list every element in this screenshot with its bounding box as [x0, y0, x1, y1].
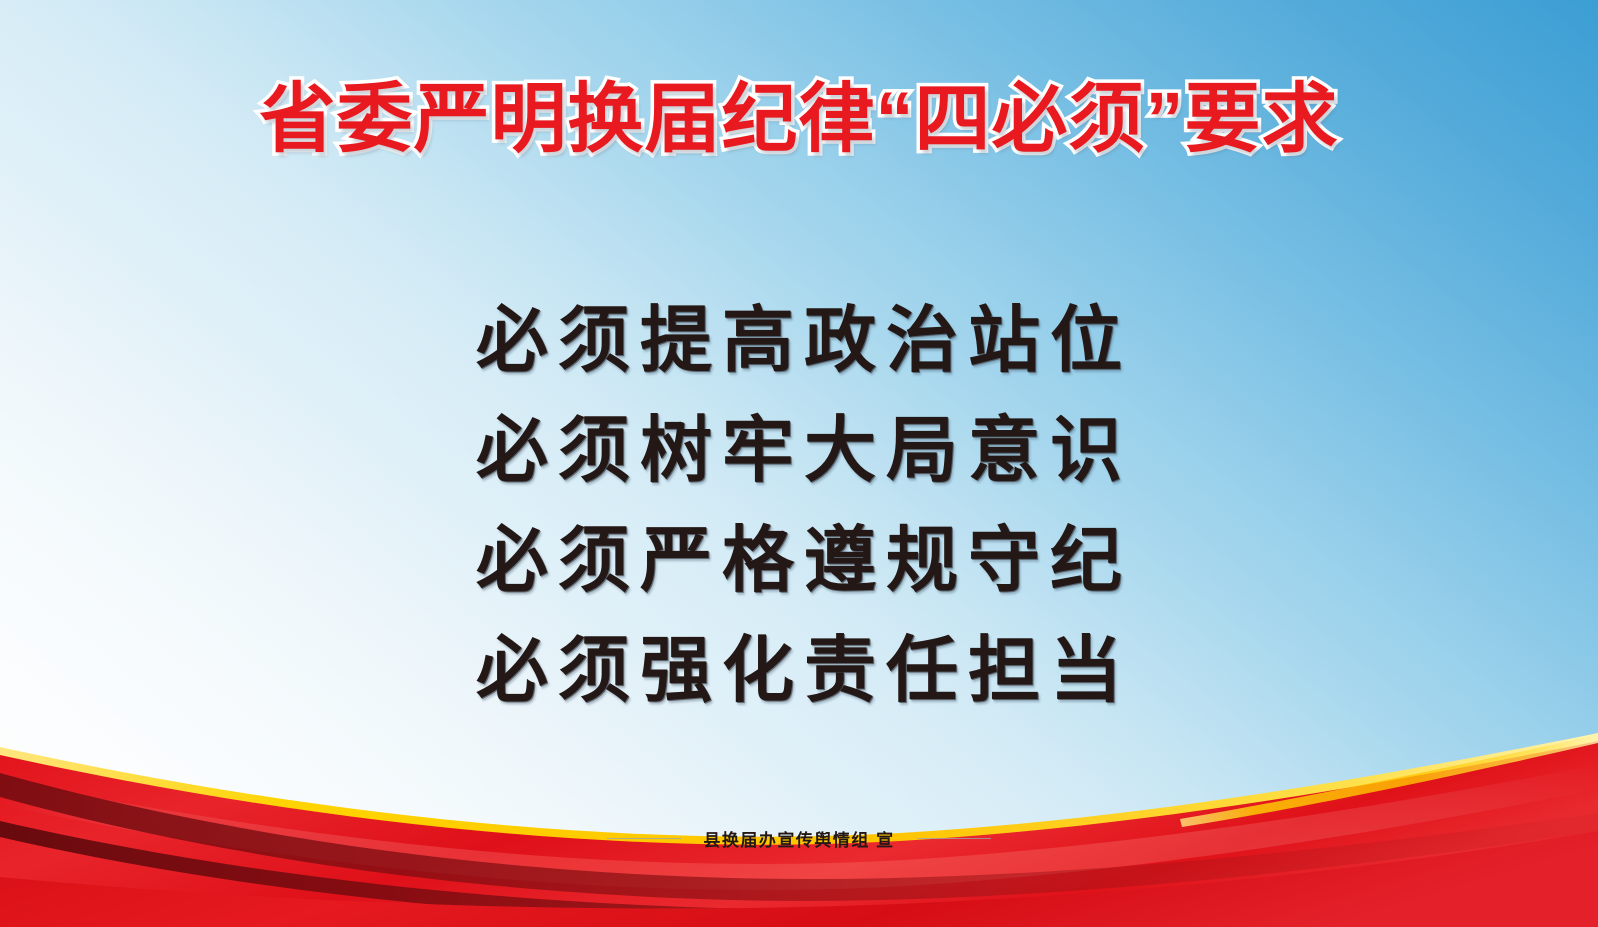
- poster-canvas: 省委严明换届纪律“四必须”要求 必须提高政治站位 必须树牢大局意识 必须严格遵规…: [0, 0, 1598, 927]
- requirement-line-3: 必须严格遵规守纪: [0, 506, 1598, 616]
- credit-rule-right: [917, 838, 991, 839]
- requirement-line-4: 必须强化责任担当: [0, 616, 1598, 726]
- credit-rule-left: [607, 838, 681, 839]
- title-block: 省委严明换届纪律“四必须”要求: [0, 82, 1598, 158]
- requirements-list: 必须提高政治站位 必须树牢大局意识 必须严格遵规守纪 必须强化责任担当: [0, 286, 1598, 726]
- requirement-line-1: 必须提高政治站位: [0, 286, 1598, 396]
- poster-title: 省委严明换届纪律“四必须”要求: [260, 82, 1339, 158]
- requirement-line-2: 必须树牢大局意识: [0, 396, 1598, 506]
- ribbon-gold-glint: [1180, 735, 1598, 827]
- footer-credit: 县换届办宣传舆情组 宣: [0, 826, 1598, 851]
- credit-text: 县换届办宣传舆情组 宣: [703, 826, 894, 851]
